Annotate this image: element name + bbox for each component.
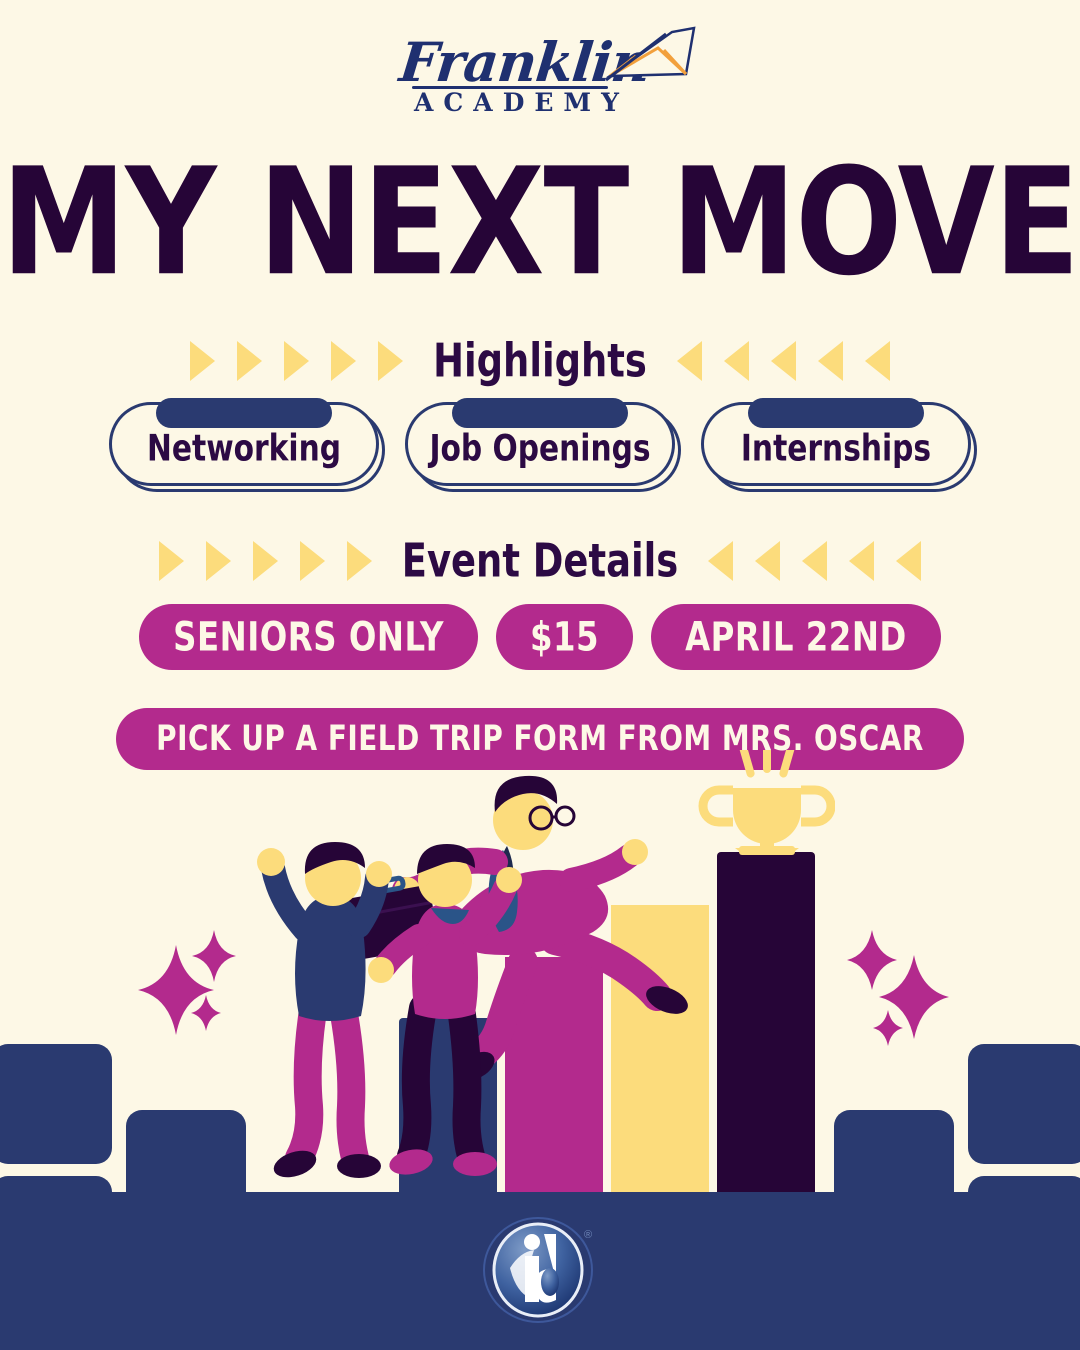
bar-purple — [717, 852, 815, 1220]
event-pill-date[interactable]: APRIL 22ND — [651, 604, 941, 670]
arrow-right-icon — [190, 341, 215, 381]
event-pill-row: SENIORS ONLY $15 APRIL 22ND — [0, 604, 1080, 670]
ib-logo: ® — [480, 1212, 600, 1328]
event-pill-label: SENIORS ONLY — [173, 614, 444, 660]
arrow-left-icon — [708, 541, 733, 581]
pill-top-bar — [156, 398, 332, 428]
sparkle-icon — [873, 1010, 903, 1046]
arrow-right-icon — [237, 341, 262, 381]
arrow-left-icon — [724, 341, 749, 381]
arrow-left-icon — [849, 541, 874, 581]
arrow-left-icon — [865, 341, 890, 381]
arrow-right-icon — [284, 341, 309, 381]
arrow-right-icon — [300, 541, 325, 581]
sparkle-icon — [192, 930, 236, 982]
arrow-left-icon — [755, 541, 780, 581]
arrows-right-highlights — [677, 341, 890, 381]
arrow-left-icon — [677, 341, 702, 381]
logo-academy-text: ACADEMY — [414, 88, 629, 117]
highlights-section-header: Highlights — [0, 338, 1080, 384]
arrow-left-icon — [896, 541, 921, 581]
sparkle-icon — [138, 945, 214, 1035]
arrow-right-icon — [378, 341, 403, 381]
arrows-left-highlights — [190, 341, 403, 381]
arrow-right-icon — [206, 541, 231, 581]
event-pill-audience[interactable]: SENIORS ONLY — [139, 604, 478, 670]
event-pill-price[interactable]: $15 — [496, 604, 633, 670]
cheering-student-navy — [257, 842, 392, 1182]
arrow-left-icon — [771, 341, 796, 381]
pill-top-bar — [452, 398, 628, 428]
career-success-illustration — [255, 750, 835, 1220]
arrow-right-icon — [159, 541, 184, 581]
arrow-right-icon — [331, 341, 356, 381]
envelope-mark-icon — [606, 26, 696, 88]
arrows-left-event — [159, 541, 372, 581]
event-pill-label: $15 — [530, 614, 599, 660]
highlights-title: Highlights — [403, 334, 677, 388]
highlight-pill-row: Networking Job Openings Internships — [0, 398, 1080, 494]
pill-top-bar — [748, 398, 924, 428]
arrow-left-icon — [818, 341, 843, 381]
trophy-icon — [703, 750, 831, 855]
sparkle-icon — [847, 930, 897, 990]
arrow-left-icon — [802, 541, 827, 581]
registered-mark: ® — [584, 1229, 592, 1241]
arrows-right-event — [708, 541, 921, 581]
sparkle-icon — [879, 955, 949, 1039]
arrow-right-icon — [253, 541, 278, 581]
brand-logo: Franklin ACADEMY — [0, 22, 1080, 122]
highlight-pill-job-openings[interactable]: Job Openings — [405, 398, 675, 494]
arrow-right-icon — [347, 541, 372, 581]
highlight-pill-networking[interactable]: Networking — [109, 398, 379, 494]
page-title: MY NEXT MOVE — [0, 150, 1080, 296]
sparkle-icon — [191, 995, 221, 1031]
event-details-section-header: Event Details — [0, 538, 1080, 584]
highlight-pill-internships[interactable]: Internships — [701, 398, 971, 494]
event-pill-label: APRIL 22ND — [685, 614, 907, 660]
event-details-title: Event Details — [372, 534, 708, 588]
